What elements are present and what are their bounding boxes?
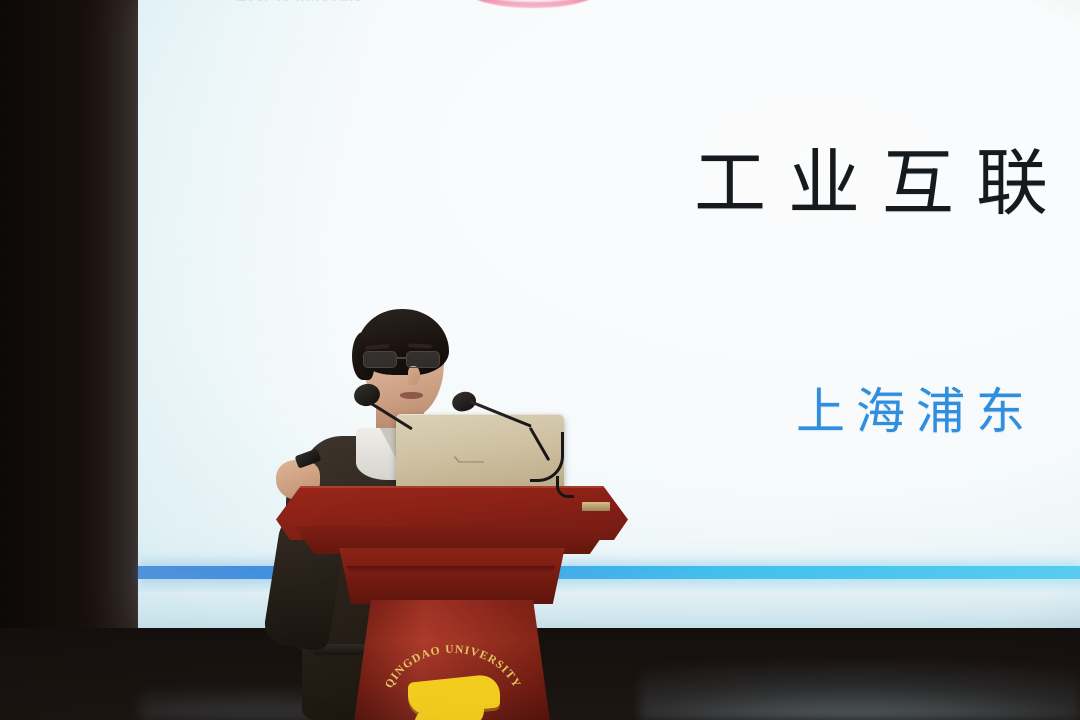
slide-logo-tagline: Ever to innovate [236, 0, 362, 5]
floor-light-pool [640, 660, 1080, 720]
podium-crest: QINGDAO UNIVERSITY [384, 636, 522, 720]
slide-title: 工业互联 [694, 148, 1070, 220]
glasses-bridge [397, 357, 406, 359]
speaker-mouth [400, 392, 423, 399]
podium-mid-band [332, 548, 572, 604]
speaker-glasses-icon [360, 351, 448, 368]
slide-logo-band: Ever to innovate [138, 0, 1080, 22]
podium-nameplate [582, 502, 610, 511]
podium: QINGDAO UNIVERSITY [276, 486, 628, 720]
microphone-cable-curve [530, 432, 564, 482]
glasses-lens-left [363, 351, 397, 368]
slide-subtitle: 上海浦东 [796, 388, 1036, 437]
microphone-base-cable [556, 476, 574, 498]
presentation-photo-scene: Ever to innovate 工业互联 上海浦东 [0, 0, 1080, 720]
microphone [452, 386, 572, 506]
stage-left-curtain [0, 0, 142, 720]
glasses-lens-right [406, 351, 440, 368]
podium-mid-groove [342, 566, 560, 573]
microphone-gooseneck [469, 400, 531, 428]
